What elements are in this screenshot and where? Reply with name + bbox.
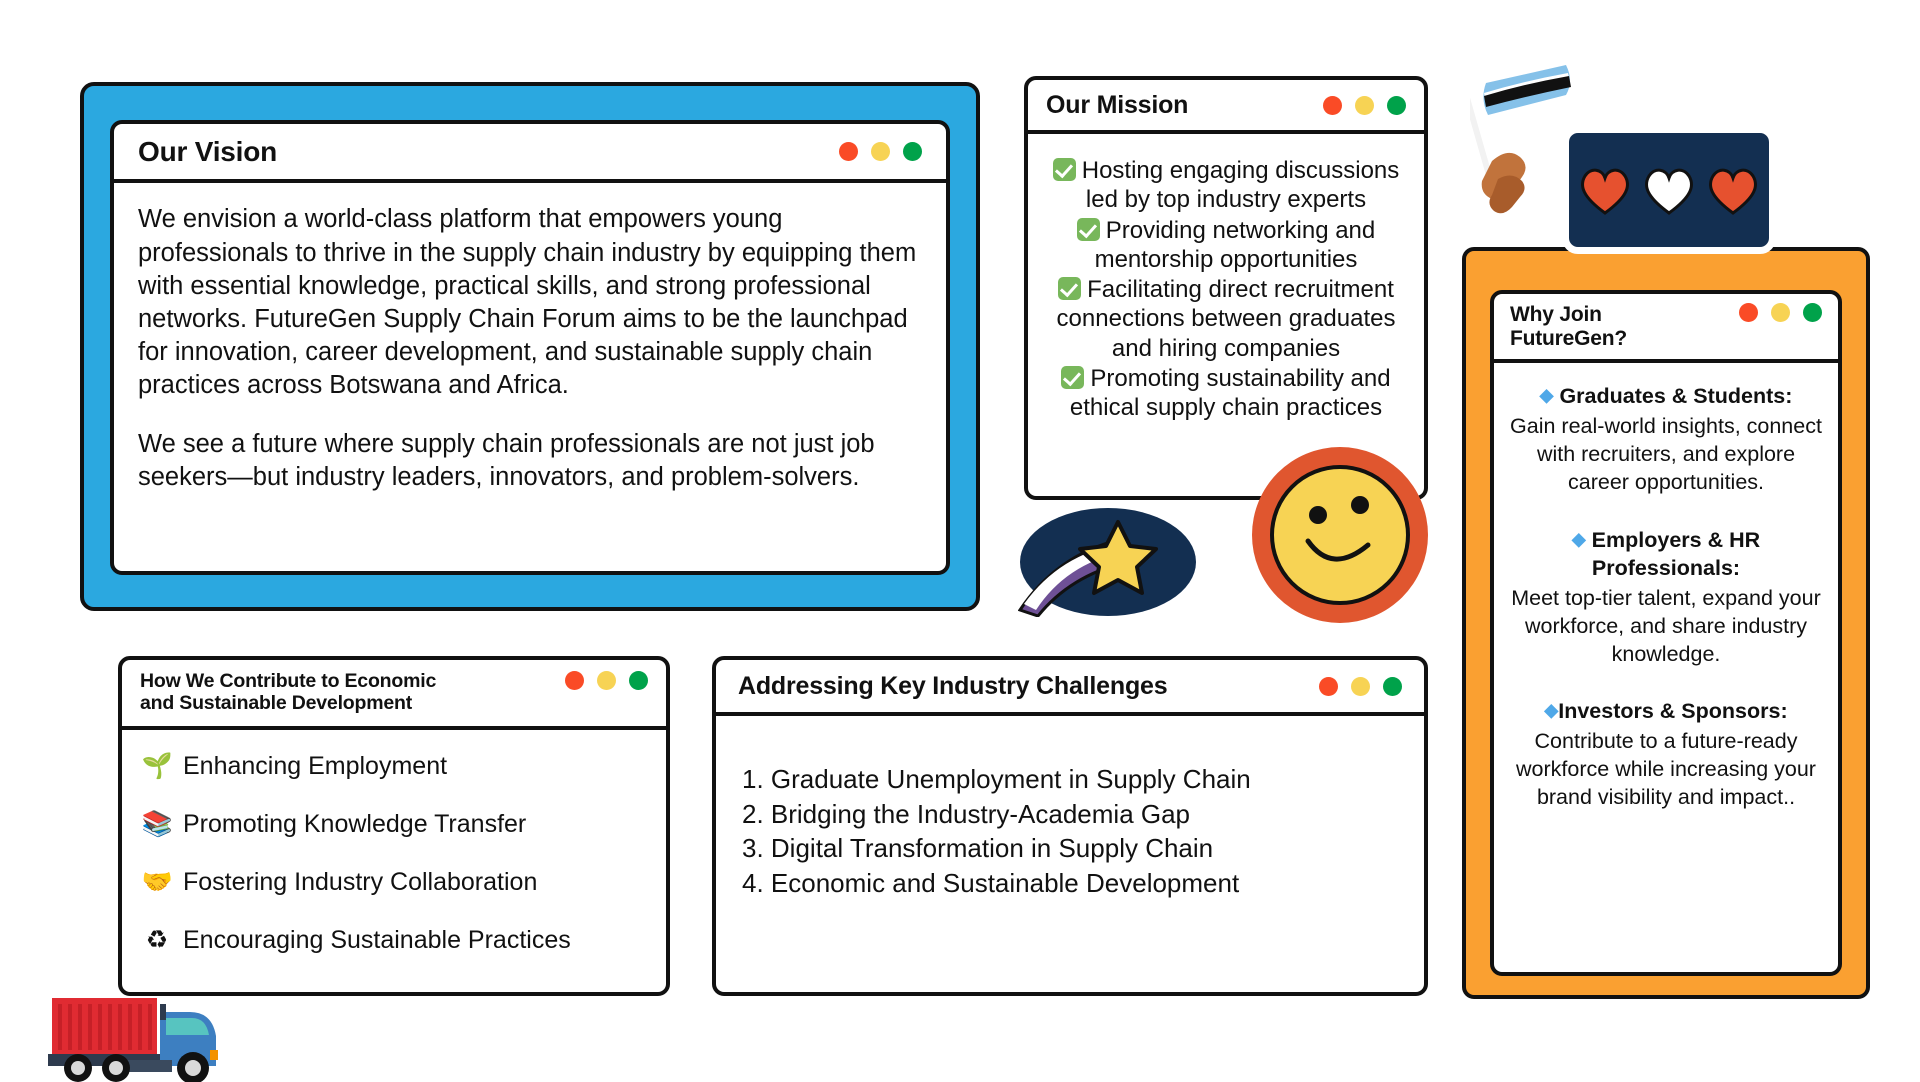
list-item: 📚 Promoting Knowledge Transfer: [142, 810, 646, 840]
heart-icon: [1641, 164, 1697, 216]
mission-item-label: Hosting engaging discussions led by top …: [1082, 157, 1400, 213]
list-item: ◆ Employers & HR Professionals: Meet top…: [1506, 527, 1826, 669]
minimize-dot-icon[interactable]: [1351, 677, 1370, 696]
mission-item-label: Providing networking and mentorship oppo…: [1095, 217, 1376, 273]
list-item: ◆ Graduates & Students: Gain real-world …: [1506, 383, 1826, 497]
contribute-item-label: Encouraging Sustainable Practices: [183, 928, 571, 953]
diamond-icon: ◆: [1572, 529, 1586, 549]
maximize-dot-icon[interactable]: [629, 671, 648, 690]
why-join-heading-text: Graduates & Students:: [1559, 384, 1792, 408]
list-item: 🌱 Enhancing Employment: [142, 752, 646, 782]
list-item: 2. Bridging the Industry-Academia Gap: [742, 797, 1398, 832]
list-item: ◆Investors & Sponsors: Contribute to a f…: [1506, 698, 1826, 812]
contribute-item-label: Promoting Knowledge Transfer: [183, 812, 526, 837]
list-item: 🤝 Fostering Industry Collaboration: [142, 868, 646, 898]
mission-item-label: Facilitating direct recruitment connecti…: [1057, 276, 1396, 362]
recycle-icon: ♻: [142, 926, 172, 956]
check-icon: [1053, 158, 1076, 181]
contribute-item-label: Fostering Industry Collaboration: [183, 870, 537, 895]
window-dots: [565, 671, 648, 690]
vision-card-header: Our Vision: [114, 124, 946, 183]
check-icon: [1077, 218, 1100, 241]
contribute-item-label: Enhancing Employment: [183, 754, 447, 779]
window-dots: [1323, 96, 1406, 115]
window-dots: [1319, 677, 1402, 696]
check-icon: [1061, 366, 1084, 389]
mission-card-header: Our Mission: [1028, 80, 1424, 134]
mission-title: Our Mission: [1046, 91, 1188, 119]
list-item: Providing networking and mentorship oppo…: [1034, 216, 1418, 275]
vision-body: We envision a world-class platform that …: [114, 183, 946, 494]
shooting-star-illustration: [1018, 500, 1198, 617]
infographic-canvas: Our Vision We envision a world-class pla…: [0, 0, 1920, 1080]
close-dot-icon[interactable]: [1319, 677, 1338, 696]
delivery-truck-illustration: [38, 990, 253, 1082]
list-item: ♻ Encouraging Sustainable Practices: [142, 926, 646, 956]
challenges-card-header: Addressing Key Industry Challenges: [716, 660, 1424, 716]
handshake-icon: 🤝: [142, 868, 172, 898]
close-dot-icon[interactable]: [1323, 96, 1342, 115]
why-join-heading-text: Employers & HR Professionals:: [1592, 528, 1760, 580]
minimize-dot-icon[interactable]: [597, 671, 616, 690]
hearts-card-illustration: [1562, 126, 1776, 254]
mission-body: Hosting engaging discussions led by top …: [1028, 134, 1424, 422]
window-dots: [839, 142, 922, 161]
maximize-dot-icon[interactable]: [1383, 677, 1402, 696]
close-dot-icon[interactable]: [1739, 303, 1758, 322]
why-join-card-header: Why Join FutureGen?: [1494, 294, 1838, 363]
vision-card: Our Vision We envision a world-class pla…: [110, 120, 950, 575]
books-icon: 📚: [142, 810, 172, 840]
close-dot-icon[interactable]: [565, 671, 584, 690]
minimize-dot-icon[interactable]: [1355, 96, 1374, 115]
diamond-icon: ◆: [1544, 700, 1558, 720]
maximize-dot-icon[interactable]: [903, 142, 922, 161]
contribute-title: How We Contribute to Economic and Sustai…: [140, 671, 436, 715]
minimize-dot-icon[interactable]: [1771, 303, 1790, 322]
list-item: Facilitating direct recruitment connecti…: [1034, 275, 1418, 363]
mission-card: Our Mission Hosting engaging discussions…: [1024, 76, 1428, 500]
check-icon: [1058, 277, 1081, 300]
heart-icon: [1577, 164, 1633, 216]
why-join-group-body: Meet top-tier talent, expand your workfo…: [1511, 586, 1821, 666]
minimize-dot-icon[interactable]: [871, 142, 890, 161]
challenges-title: Addressing Key Industry Challenges: [738, 672, 1167, 700]
why-join-group-body: Gain real-world insights, connect with r…: [1510, 414, 1822, 494]
maximize-dot-icon[interactable]: [1803, 303, 1822, 322]
list-item: Promoting sustainability and ethical sup…: [1034, 364, 1418, 423]
challenges-body: 1. Graduate Unemployment in Supply Chain…: [716, 716, 1424, 900]
why-join-title: Why Join FutureGen?: [1510, 303, 1627, 350]
list-item: 3. Digital Transformation in Supply Chai…: [742, 831, 1398, 866]
why-join-heading-text: Investors & Sponsors:: [1558, 699, 1787, 723]
vision-paragraph-1: We envision a world-class platform that …: [138, 203, 922, 402]
why-join-card: Why Join FutureGen? ◆ Graduates & Studen…: [1490, 290, 1842, 976]
why-join-group-heading: ◆ Graduates & Students:: [1506, 383, 1826, 411]
vision-paragraph-2: We see a future where supply chain profe…: [138, 428, 922, 494]
why-join-body: ◆ Graduates & Students: Gain real-world …: [1494, 363, 1838, 812]
maximize-dot-icon[interactable]: [1387, 96, 1406, 115]
heart-icon: [1705, 164, 1761, 216]
mission-item-label: Promoting sustainability and ethical sup…: [1070, 365, 1391, 421]
contribute-body: 🌱 Enhancing Employment 📚 Promoting Knowl…: [122, 730, 666, 956]
close-dot-icon[interactable]: [839, 142, 858, 161]
challenges-card: Addressing Key Industry Challenges 1. Gr…: [712, 656, 1428, 996]
window-dots: [1739, 303, 1822, 322]
list-item: 1. Graduate Unemployment in Supply Chain: [742, 762, 1398, 797]
contribute-card: How We Contribute to Economic and Sustai…: [118, 656, 670, 996]
list-item: 4. Economic and Sustainable Development: [742, 866, 1398, 901]
why-join-group-body: Contribute to a future-ready workforce w…: [1516, 729, 1816, 809]
vision-title: Our Vision: [138, 136, 277, 167]
list-item: Hosting engaging discussions led by top …: [1034, 156, 1418, 215]
diamond-icon: ◆: [1540, 385, 1554, 405]
contribute-card-header: How We Contribute to Economic and Sustai…: [122, 660, 666, 730]
smiley-face-illustration: [1250, 445, 1430, 625]
why-join-group-heading: ◆ Employers & HR Professionals:: [1506, 527, 1826, 583]
why-join-group-heading: ◆Investors & Sponsors:: [1506, 698, 1826, 726]
seedling-icon: 🌱: [142, 752, 172, 782]
